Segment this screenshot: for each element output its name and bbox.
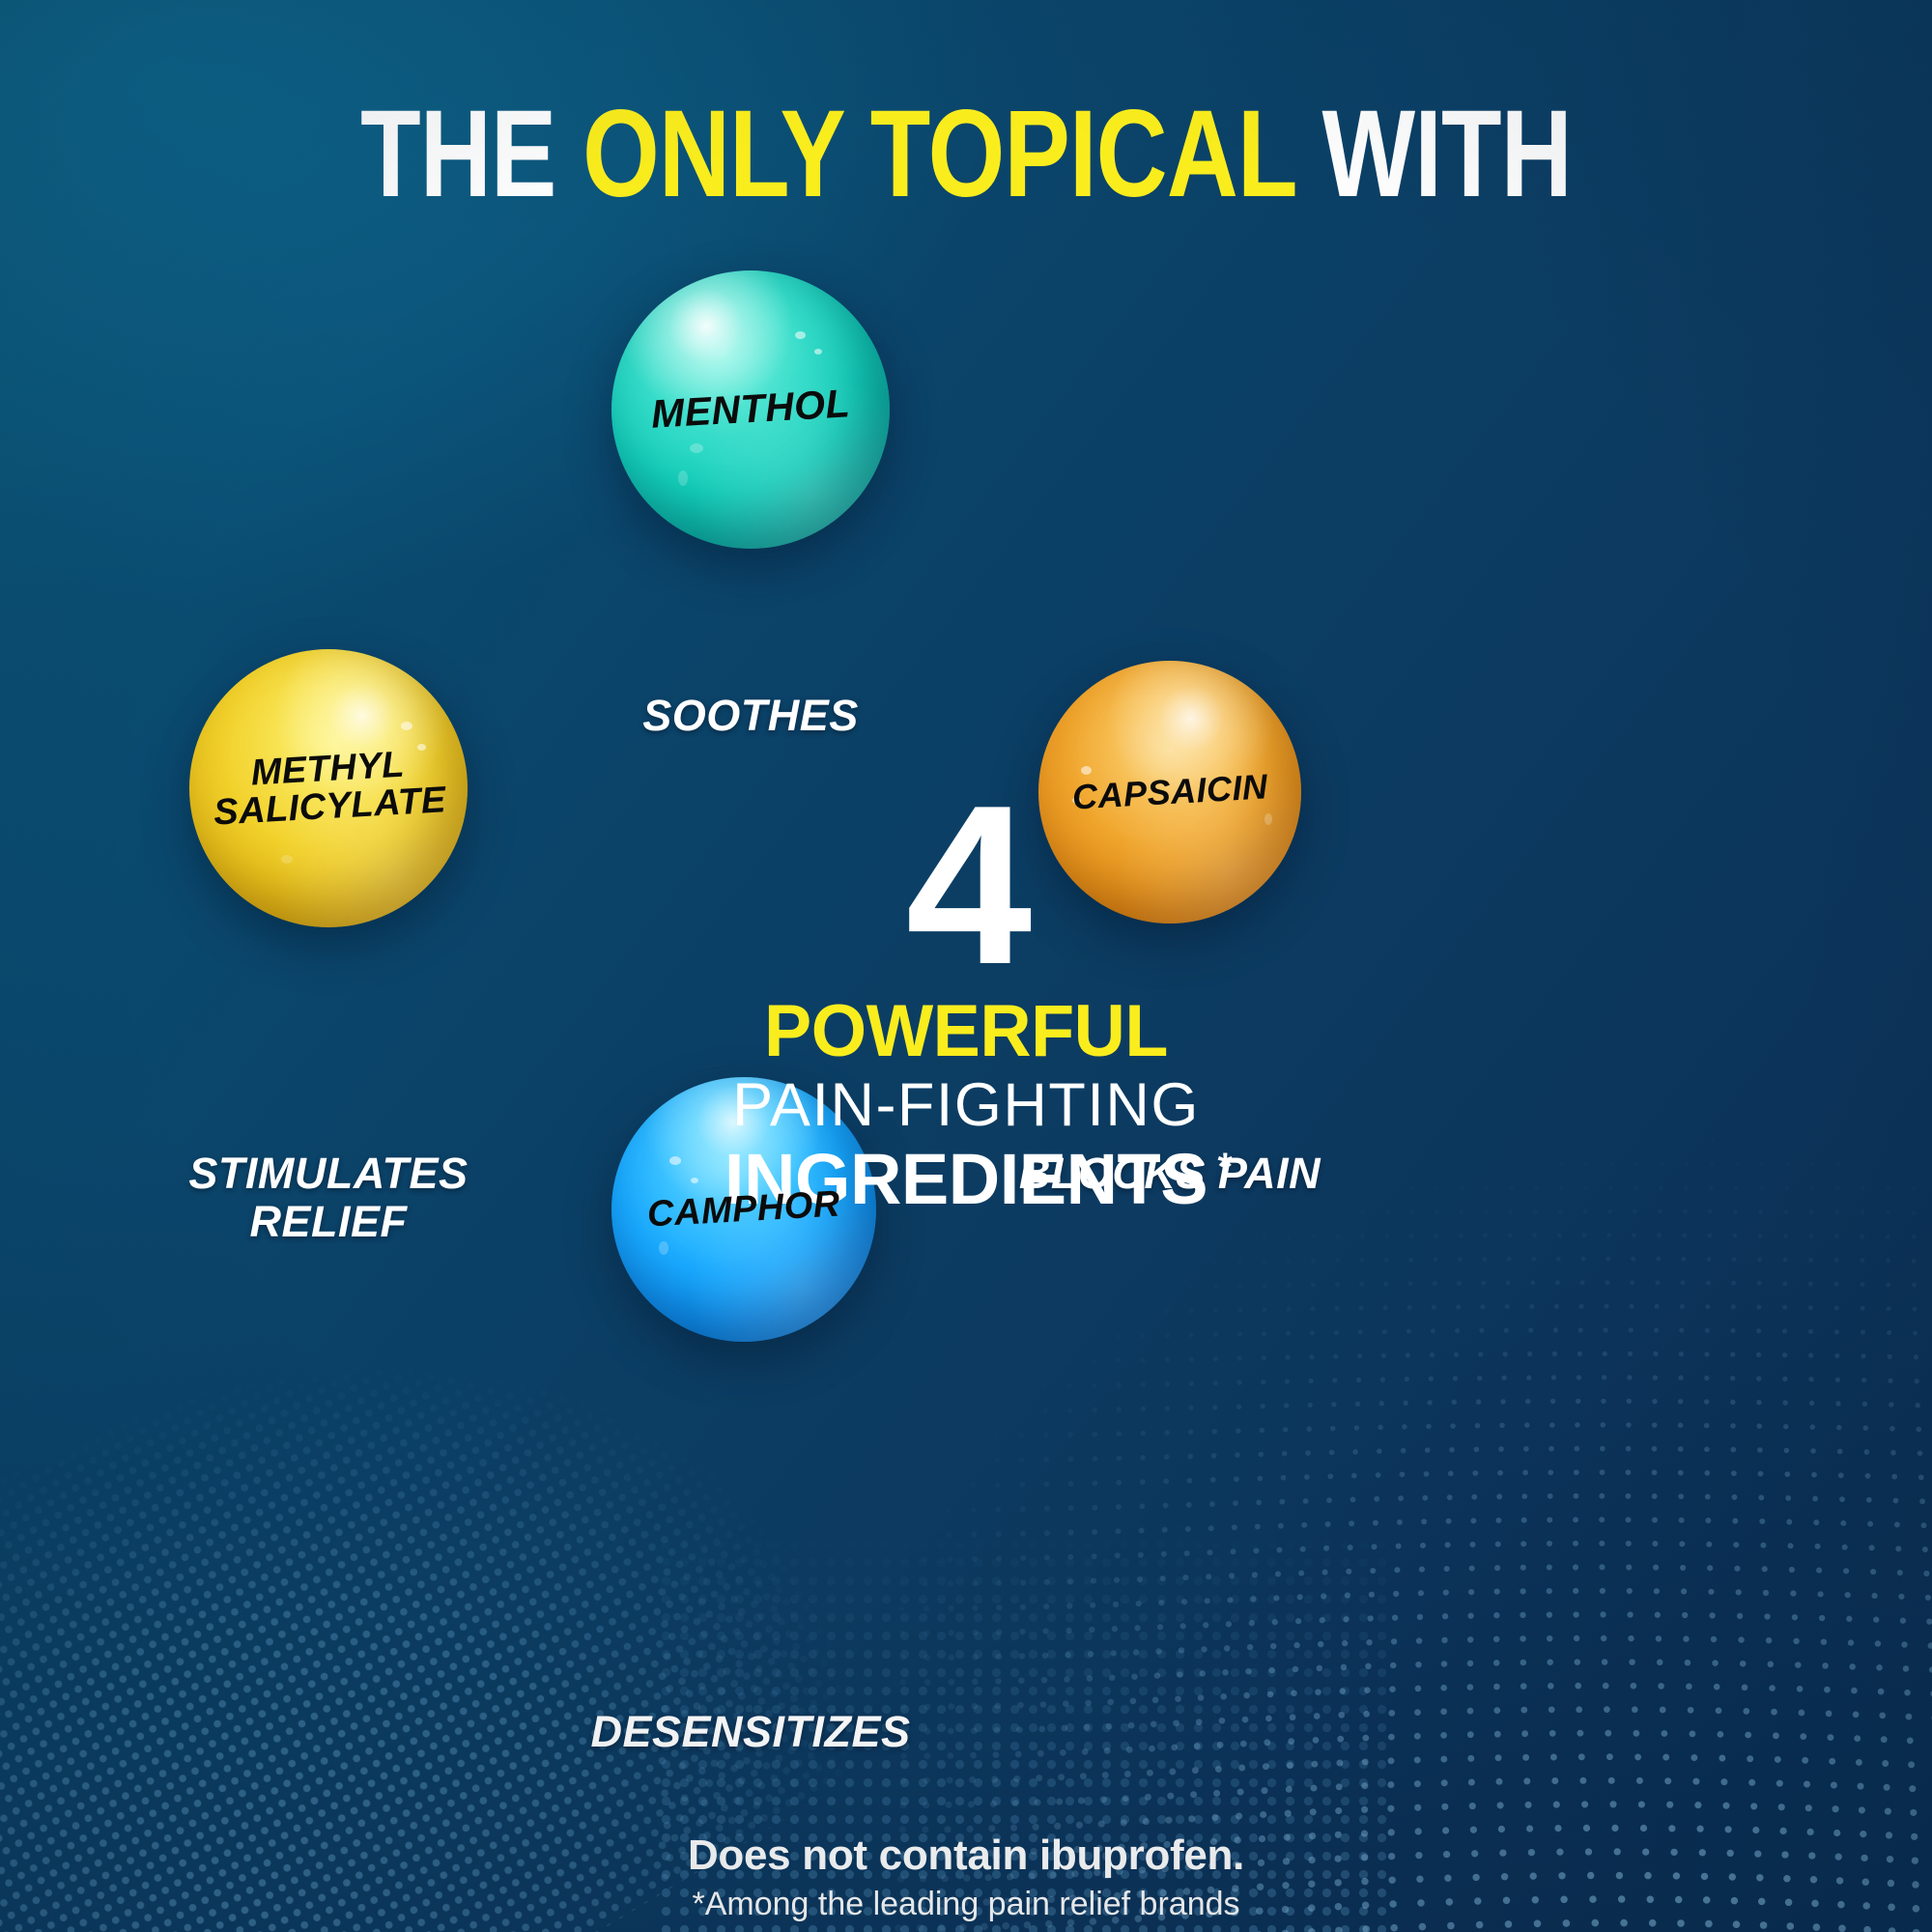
headline-part-1: THE: [360, 85, 582, 223]
headline: THE ONLY TOPICAL WITH: [193, 93, 1739, 216]
ingredient-count: 4: [667, 792, 1265, 979]
ingredient-caption-camphor: DESENSITIZES: [515, 1708, 986, 1756]
ingredient-bead-methyl-salicylate: METHYL SALICYLATE: [189, 649, 468, 927]
infographic-canvas: THE ONLY TOPICAL WITH MENTHOL SOOTHES ME…: [0, 0, 1932, 1932]
wave-dot-texture: [879, 1111, 1932, 1932]
footnote-asterisk: *: [1218, 1146, 1234, 1189]
footer-footnote: *Among the leading pain relief brands: [0, 1886, 1932, 1923]
headline-accent: ONLY TOPICAL: [582, 85, 1295, 223]
ingredient-caption-methyl-salicylate: STIMULATES RELIEF: [93, 1150, 564, 1247]
ingredient-label-menthol: MENTHOL: [650, 384, 851, 435]
ingredient-bead-menthol: MENTHOL: [611, 270, 890, 549]
claim-powerful: POWERFUL: [675, 994, 1256, 1069]
footer-disclaimer: Does not contain ibuprofen.: [0, 1832, 1932, 1880]
headline-part-2: WITH: [1295, 85, 1572, 223]
ingredient-label-methyl-salicylate: METHYL SALICYLATE: [211, 745, 447, 833]
ingredient-caption-menthol: SOOTHES: [515, 692, 986, 740]
center-claim-block: 4 POWERFUL PAIN-FIGHTING INGREDIENTS *: [667, 792, 1265, 1216]
ingredient-label-camphor: CAMPHOR: [646, 1185, 841, 1234]
claim-pain-fighting: PAIN-FIGHTING: [667, 1072, 1265, 1139]
